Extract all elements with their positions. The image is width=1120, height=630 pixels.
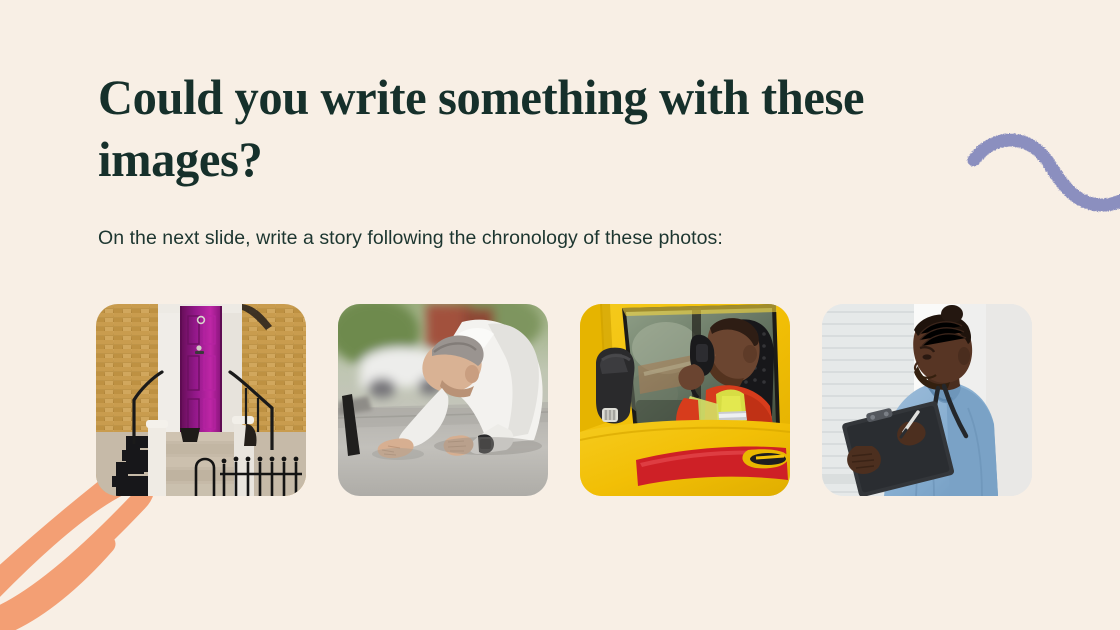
collapsed-man-photo[interactable] [338, 304, 548, 496]
purple-squiggle-icon [960, 118, 1120, 238]
front-door-photo[interactable] [96, 304, 306, 496]
slide-instruction: On the next slide, write a story followi… [98, 224, 998, 252]
page-title: Could you write something with these ima… [98, 66, 971, 190]
slide-canvas: Could you write something with these ima… [0, 0, 1120, 630]
ambulance-driver-photo[interactable] [580, 304, 790, 496]
nurse-clipboard-photo[interactable] [822, 304, 1032, 496]
photo-strip [96, 304, 1032, 496]
